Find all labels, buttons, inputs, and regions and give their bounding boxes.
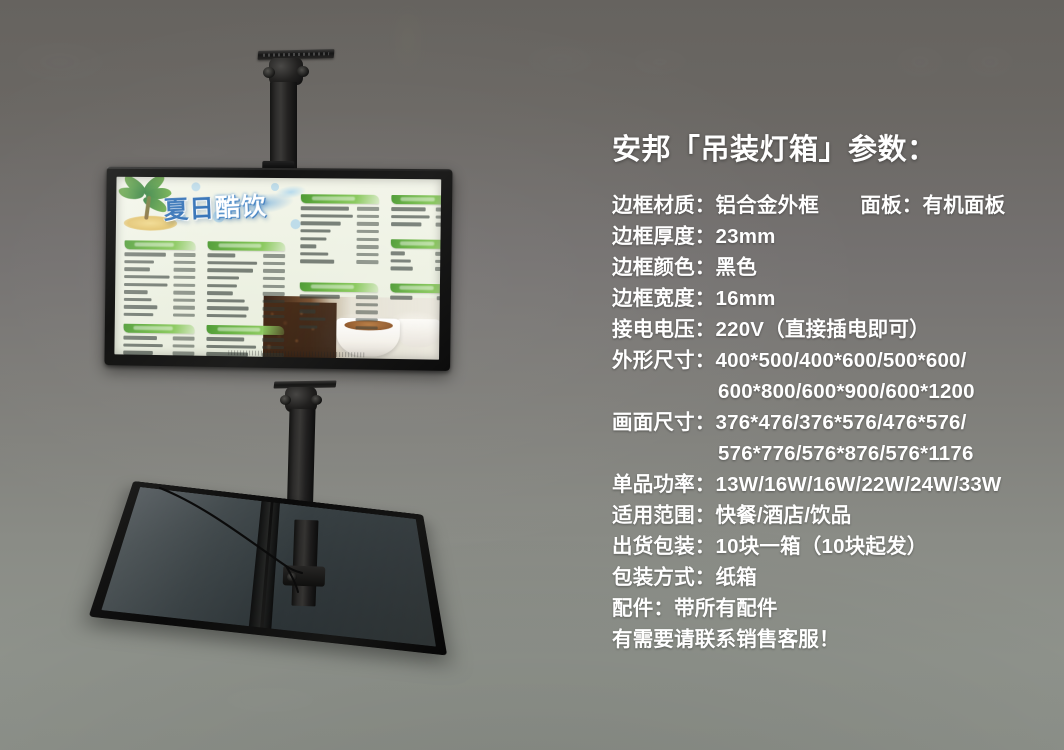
menu-headline-text: 夏日酷饮 <box>163 186 268 226</box>
menu-item-row <box>124 259 195 266</box>
spec-line-voltage: 接电电压：220V（直接插电即可） <box>612 314 1042 345</box>
spec-line-outer-size-cont: 600*800/600*900/600*1200 <box>612 376 1042 407</box>
menu-item-row <box>300 228 378 235</box>
menu-item-row <box>124 266 195 273</box>
menu-item-row <box>207 267 285 274</box>
menu-section-header <box>391 195 441 205</box>
spec-line-frame-material: 边框材质：铝合金外框 面板：有机面板 <box>612 190 1042 221</box>
menu-item-row <box>207 313 285 320</box>
menu-section-header <box>206 325 284 335</box>
menu-item-row <box>391 221 441 228</box>
menu-item-row <box>207 305 285 312</box>
menu-item-row <box>300 251 378 258</box>
menu-item-row <box>124 296 195 303</box>
menu-item-row <box>123 342 194 349</box>
light-box-front-unit: 夏日酷饮 <box>104 167 452 371</box>
spec-line-picture-size-cont: 576*776/576*876/576*1176 <box>612 438 1042 469</box>
spec-line-contact: 有需要请联系销售客服！ <box>612 624 1042 655</box>
spec-line-frame-width: 边框宽度：16mm <box>612 283 1042 314</box>
menu-item-row <box>391 250 442 257</box>
coffee-cup-back-icon <box>397 319 440 348</box>
menu-headline-artwork: 夏日酷饮 <box>122 180 311 244</box>
menu-column-1-lower <box>123 324 195 360</box>
spec-list: 边框材质：铝合金外框 面板：有机面板 边框厚度：23mm 边框颜色：黑色 边框宽… <box>612 190 1042 655</box>
menu-item-row <box>299 309 377 316</box>
menu-item-row <box>124 304 195 311</box>
spec-line-application: 适用范围：快餐/酒店/饮品 <box>612 500 1042 531</box>
menu-item-row <box>207 252 285 259</box>
menu-item-row <box>207 260 285 267</box>
menu-item-row <box>300 258 378 265</box>
menu-item-row <box>391 206 441 213</box>
menu-item-row <box>299 316 377 323</box>
menu-column-1 <box>124 240 196 320</box>
menu-item-row <box>124 289 195 296</box>
light-box-aluminium-frame: 夏日酷饮 <box>104 167 452 371</box>
menu-item-row <box>299 324 377 331</box>
menu-column-4 <box>391 195 441 230</box>
menu-item-row <box>391 258 442 265</box>
menu-item-row <box>391 214 441 221</box>
spec-text-block: 安邦「吊装灯箱」参数： 边框材质：铝合金外框 面板：有机面板 边框厚度：23mm… <box>612 126 1042 655</box>
menu-item-row <box>124 251 195 258</box>
menu-item-row <box>207 290 285 297</box>
menu-item-row <box>207 282 285 289</box>
menu-section-header <box>123 324 194 334</box>
spec-title: 安邦「吊装灯箱」参数： <box>612 126 1042 168</box>
menu-item-row <box>123 350 194 357</box>
menu-item-row <box>390 295 441 302</box>
menu-column-4-lower <box>390 283 441 303</box>
pivot-knuckle-upper <box>269 58 303 85</box>
menu-section-header <box>391 239 441 249</box>
menu-item-row <box>123 335 194 342</box>
menu-item-row <box>123 357 194 359</box>
menu-item-row <box>300 236 378 243</box>
menu-item-row <box>300 301 378 308</box>
spec-line-picture-size: 画面尺寸：376*476/376*576/476*576/ <box>612 407 1042 438</box>
menu-item-row <box>124 281 195 288</box>
menu-section-header <box>300 282 379 292</box>
menu-section-header <box>390 283 441 293</box>
menu-column-2 <box>207 241 286 321</box>
menu-item-row <box>390 266 441 273</box>
menu-item-row <box>124 274 195 281</box>
menu-item-row <box>124 312 195 319</box>
product-spec-image: 夏日酷饮 <box>0 0 1064 750</box>
spec-line-shipping-pack: 出货包装：10块一箱（10块起发） <box>612 531 1042 562</box>
menu-item-row <box>300 243 378 250</box>
menu-item-row <box>207 275 285 282</box>
menu-column-3-middle <box>299 282 378 332</box>
menu-item-row <box>300 293 378 300</box>
menu-column-4-middle <box>390 239 441 274</box>
menu-section-header <box>301 194 380 204</box>
spec-line-outer-size: 外形尺寸：400*500/400*600/500*600/ <box>612 345 1042 376</box>
menu-item-row <box>206 336 284 343</box>
spec-line-frame-thickness: 边框厚度：23mm <box>612 221 1042 252</box>
spec-line-power: 单品功率：13W/16W/16W/22W/24W/33W <box>612 469 1042 500</box>
spec-line-packing-method: 包装方式：纸箱 <box>612 562 1042 593</box>
mount-clamp-lower <box>283 565 326 586</box>
drop-post-lower-segment <box>292 520 319 607</box>
spec-line-accessories: 配件：带所有配件 <box>612 593 1042 624</box>
menu-item-row <box>207 298 285 305</box>
menu-item-row <box>206 359 284 360</box>
spec-line-frame-color: 边框颜色：黑色 <box>612 252 1042 283</box>
menu-poster-panel: 夏日酷饮 <box>114 177 441 360</box>
